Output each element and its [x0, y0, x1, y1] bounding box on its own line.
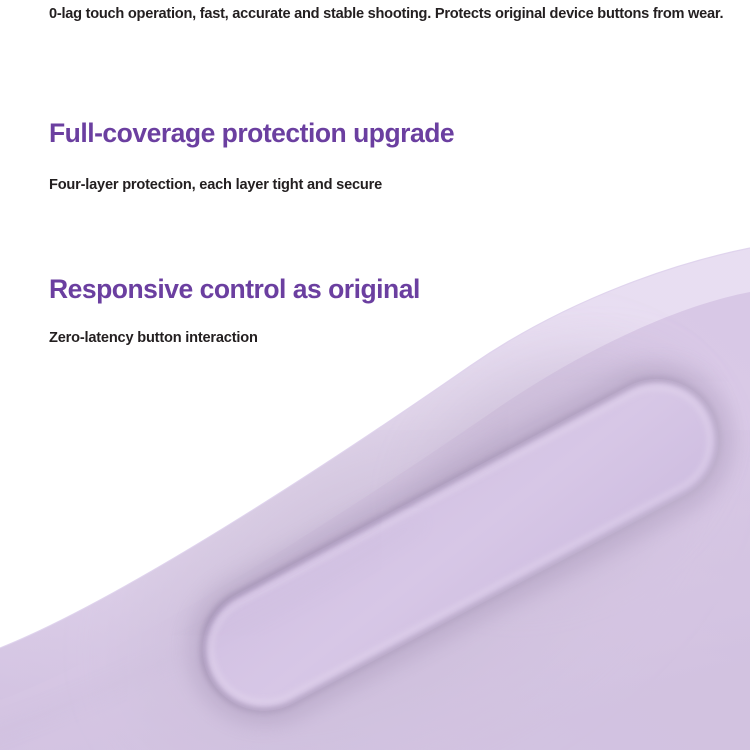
- feature-heading-full-coverage: Full-coverage protection upgrade: [49, 118, 689, 150]
- copy-layer: 0-lag touch operation, fast, accurate an…: [0, 0, 750, 750]
- intro-description: 0-lag touch operation, fast, accurate an…: [49, 5, 729, 25]
- product-detail-page: 0-lag touch operation, fast, accurate an…: [0, 0, 750, 750]
- feature-block-full-coverage: Full-coverage protection upgrade Four-la…: [49, 118, 689, 195]
- feature-heading-responsive-control: Responsive control as original: [49, 274, 689, 306]
- feature-block-responsive-control: Responsive control as original Zero-late…: [49, 274, 689, 348]
- feature-subtext-full-coverage: Four-layer protection, each layer tight …: [49, 176, 689, 196]
- feature-subtext-responsive-control: Zero-latency button interaction: [49, 329, 689, 349]
